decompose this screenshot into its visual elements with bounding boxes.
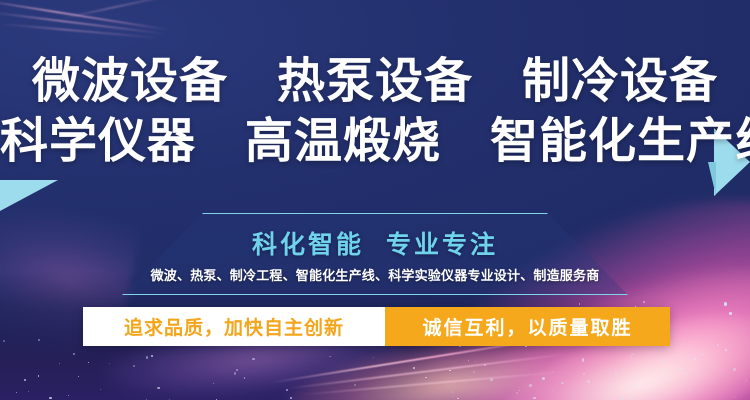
subtitle-right-text: 专业专注	[386, 231, 498, 259]
subtitle-panel: 科化智能专业专注 微波、热泵、制冷工程、智能化生产线、科学实验仪器专业设计、制造…	[122, 213, 628, 295]
subtitle-left-text: 科化智能	[252, 231, 364, 259]
panel-description: 微波、热泵、制冷工程、智能化生产线、科学实验仪器专业设计、制造服务商	[151, 265, 600, 284]
triangle-left-icon	[0, 180, 58, 211]
headline-line-1: 微波设备 热泵设备 制冷设备	[0, 58, 750, 106]
slogan-bar: 追求品质，加快自主创新 诚信互利，以质量取胜	[83, 307, 670, 346]
subtitle-panel-content: 科化智能专业专注 微波、热泵、制冷工程、智能化生产线、科学实验仪器专业设计、制造…	[122, 213, 628, 295]
slogan-left-box: 追求品质，加快自主创新	[83, 307, 385, 346]
promo-banner: 微波设备 热泵设备 制冷设备 科学仪器 高温煅烧 智能化生产线 科化智能专业专注…	[0, 0, 750, 400]
headline-line-2: 科学仪器 高温煅烧 智能化生产线	[0, 118, 750, 166]
subtitle-row: 科化智能专业专注	[252, 225, 498, 261]
slogan-right-box: 诚信互利，以质量取胜	[385, 307, 670, 346]
headline-block: 微波设备 热泵设备 制冷设备 科学仪器 高温煅烧 智能化生产线	[0, 58, 750, 166]
